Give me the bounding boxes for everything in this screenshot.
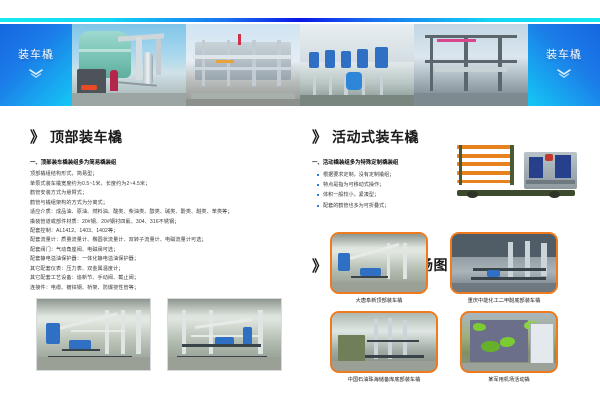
- gallery-thumb-3[interactable]: [330, 311, 438, 373]
- banner-body: 装车橇: [0, 24, 600, 106]
- heading-marker: 》: [312, 255, 325, 276]
- list-item: 连接件：电缆、镀锌钢、桥架、防爆挠性管等；: [30, 284, 295, 293]
- list-item: 顶部橇组结构形式，简易型；: [30, 170, 295, 179]
- left-column: 》 顶部装车橇 一、顶部装车橇装组多为简易橇装组 顶部橇组结构形式，简易型； 单…: [30, 126, 295, 293]
- gallery-row-2: 中国石油珠海储备库底部装车橇 某军用机场活动撬: [330, 311, 586, 383]
- left-spec-list: 顶部橇组结构形式，简易型； 单泵式装车橇宽度约为0.5~1米，长度约为2~4.5…: [30, 170, 295, 292]
- list-item: 单泵式装车橇宽度约为0.5~1米，长度约为2~4.5米；: [30, 180, 295, 189]
- banner-photo-2: [186, 24, 300, 106]
- list-item: 鹤管安装方式为悬臂式；: [30, 189, 295, 198]
- gallery-row-1: 大唐阜新顶部装车橇 重庆中能化工二甲醚底部装车橇: [330, 232, 586, 304]
- banner-tab-right[interactable]: 装车橇: [528, 24, 600, 106]
- site-photo-gallery: 大唐阜新顶部装车橇 重庆中能化工二甲醚底部装车橇: [330, 232, 586, 390]
- gallery-thumb-4[interactable]: [460, 311, 558, 373]
- gallery-caption-4: 某军用机场活动撬: [460, 376, 558, 383]
- gallery-thumb-1[interactable]: [330, 232, 428, 294]
- banner-gradient-rule: [0, 18, 600, 22]
- left-photo-pair: [36, 298, 282, 371]
- page-title: 顶部装车橇: [50, 127, 123, 147]
- gallery-caption-2: 重庆中能化工二甲醚底部装车橇: [450, 297, 558, 304]
- banner-photo-3: [300, 24, 414, 106]
- gallery-item-1[interactable]: 大唐阜新顶部装车橇: [330, 232, 428, 304]
- gallery-caption-3: 中国石油珠海储备库底部装车橇: [330, 376, 438, 383]
- section-heading-top-loading: 》 顶部装车橇: [30, 126, 295, 147]
- list-item: 配套的鹤管也多为可折叠式；: [317, 201, 584, 211]
- left-photo-2: [167, 298, 282, 371]
- list-item: 配套阀门：气动角座阀、电磁阀可选；: [30, 246, 295, 255]
- list-item: 配套控制：AL1412、1403、1402等；: [30, 227, 295, 236]
- chevron-down-icon: [28, 67, 44, 85]
- list-item: 适应介质：成品油、原油、燃料油、酸类、柴油类、醇类、碱类、酚类、醚类、苯类等；: [30, 208, 295, 217]
- left-subheading: 一、顶部装车橇装组多为简易橇装组: [30, 160, 295, 166]
- section-title-mobile: 活动式装车橇: [332, 127, 419, 147]
- heading-marker: 》: [312, 126, 325, 147]
- gallery-item-3[interactable]: 中国石油珠海储备库底部装车橇: [330, 311, 438, 383]
- gallery-caption-1: 大唐阜新顶部装车橇: [330, 297, 428, 304]
- banner-photo-4: [414, 24, 528, 106]
- gallery-item-4[interactable]: 某军用机场活动撬: [460, 311, 558, 383]
- banner-tab-right-label: 装车橇: [546, 46, 582, 62]
- left-photo-1: [36, 298, 151, 371]
- list-item: 其它配套工艺设备：追新节、手动阀、截止阀；: [30, 274, 295, 283]
- gallery-thumb-2[interactable]: [450, 232, 558, 294]
- gallery-item-2[interactable]: 重庆中能化工二甲醚底部装车橇: [450, 232, 558, 304]
- mobile-skid-photo: [452, 140, 580, 198]
- brochure-page: 装车橇: [0, 0, 600, 412]
- list-item: 配套流量计：质量流量计、椭圆状流量计、双转子流量计、电磁流量计可选；: [30, 236, 295, 245]
- banner-tab-left[interactable]: 装车橇: [0, 24, 72, 106]
- list-item: 撬装管道或部件材质：20#钢、20#钢衬四氟、304、316不锈钢；: [30, 218, 295, 227]
- header-banner: 装车橇: [0, 18, 600, 106]
- heading-marker: 》: [30, 126, 43, 147]
- list-item: 其它配套仪表：压力表、双金属温度计；: [30, 265, 295, 274]
- chevron-down-icon: [556, 67, 572, 85]
- list-item: 配套静电溢油保护器：一体化静电溢油保护器；: [30, 255, 295, 264]
- banner-photo-strip: [72, 24, 528, 106]
- list-item: 鹤管与橇组架构的方式为分离式；: [30, 199, 295, 208]
- banner-photo-1: [72, 24, 186, 106]
- banner-tab-left-label: 装车橇: [18, 46, 54, 62]
